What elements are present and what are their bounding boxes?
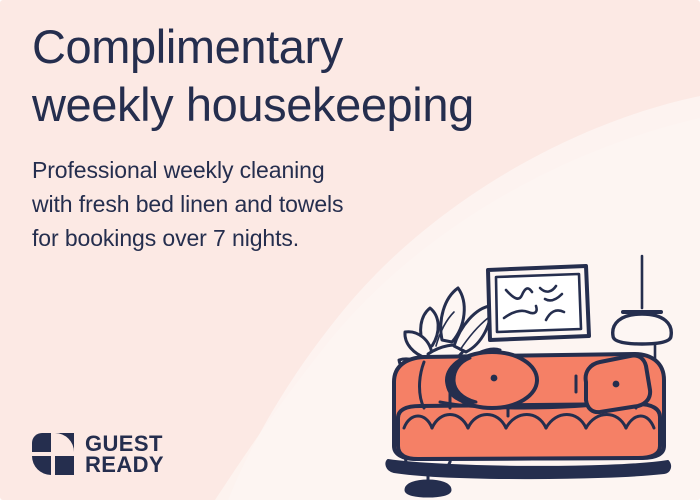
logo-line-2: READY [85, 454, 164, 476]
logo-line-1: GUEST [85, 433, 164, 455]
promo-card: Complimentary weekly housekeeping Profes… [0, 0, 700, 500]
round-pillow-icon [447, 352, 537, 408]
living-room-illustration [380, 250, 700, 500]
guestready-logo: GUEST READY [32, 433, 164, 476]
copy-block: Complimentary weekly housekeeping Profes… [32, 18, 632, 255]
square-pillow-icon [586, 355, 651, 412]
logo-wordmark: GUEST READY [85, 433, 164, 476]
guestready-quadrant-mark-icon [32, 433, 74, 475]
page-title: Complimentary weekly housekeeping [32, 18, 632, 135]
framed-picture-icon [488, 266, 589, 340]
page-subtitle: Professional weekly cleaning with fresh … [32, 153, 632, 255]
